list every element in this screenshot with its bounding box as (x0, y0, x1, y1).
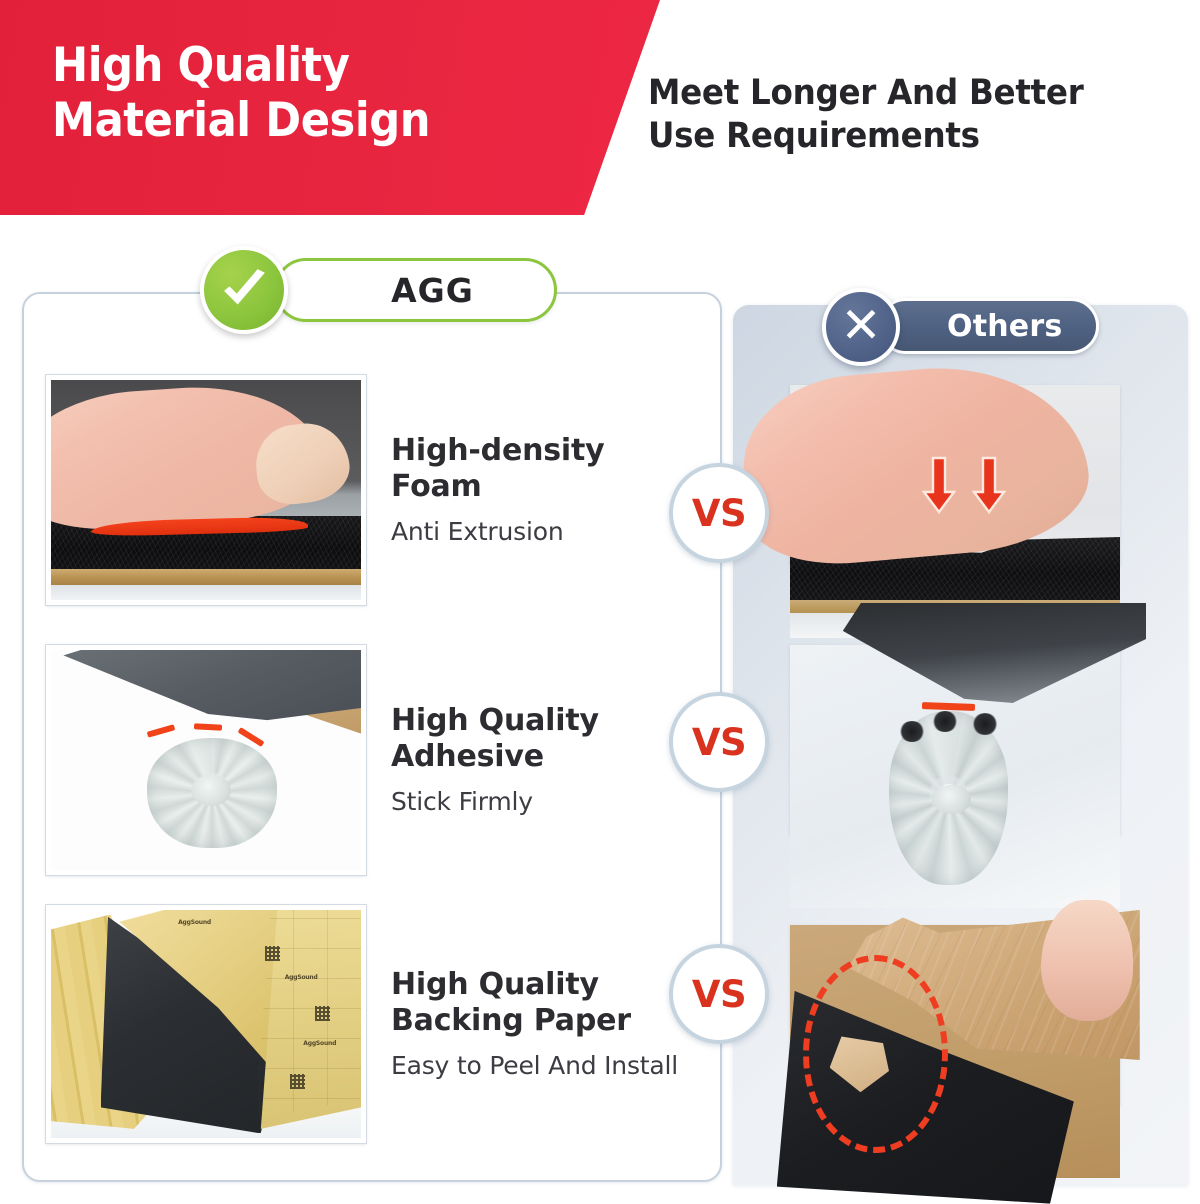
photo-poor-backing-paper (790, 925, 1120, 1105)
vs-label: VS (692, 721, 746, 764)
comparison-row-foam-bad: Inferior Foam Easy to Collapse (790, 385, 1120, 638)
photo-high-quality-backing-paper: AggSound AggSound AggSound (46, 905, 366, 1143)
check-icon (200, 246, 288, 334)
vs-label: VS (692, 492, 746, 535)
comparison-row-foam-good: High-density Foam Anti Extrusion (46, 375, 696, 605)
feature-title: High Quality Backing Paper (391, 967, 696, 1039)
down-arrow-icon (922, 456, 956, 514)
header-banner: High Quality Material Design Meet Longer… (0, 0, 1200, 215)
x-glyph: ✕ (840, 301, 881, 350)
page-title: High Quality Material Design (52, 38, 567, 149)
text-high-density-foam: High-density Foam Anti Extrusion (391, 375, 696, 605)
backing-paper-brand: AggSound (285, 974, 318, 981)
page-subtitle: Meet Longer And Better Use Requirements (648, 72, 1150, 157)
others-badge[interactable]: Others (878, 298, 1099, 354)
backing-paper-brand: AggSound (303, 1040, 336, 1047)
others-badge-label: Others (947, 309, 1062, 344)
photo-inferior-foam (790, 385, 1120, 565)
feature-subtitle: Stick Firmly (391, 787, 696, 817)
vs-badge: VS (669, 463, 769, 563)
feature-subtitle: Anti Extrusion (391, 517, 696, 547)
feature-title: High Quality Adhesive (391, 703, 696, 775)
comparison-row-backing-good: AggSound AggSound AggSound High Quality … (46, 905, 696, 1143)
backing-paper-brand: AggSound (178, 919, 211, 926)
feature-subtitle: Easy to Peel And Install (391, 1051, 696, 1081)
photo-poor-quality-adhesive (790, 645, 1120, 835)
agg-badge[interactable]: AGG (274, 258, 557, 322)
vs-badge: VS (669, 692, 769, 792)
down-arrow-icon (972, 456, 1006, 514)
photo-high-density-foam (46, 375, 366, 605)
text-high-quality-adhesive: High Quality Adhesive Stick Firmly (391, 645, 696, 875)
comparison-row-adhesive-bad: Poor Quality Adhesive Easy to Fall off (790, 645, 1120, 908)
feature-title: High-density Foam (391, 433, 696, 505)
comparison-row-adhesive-good: High Quality Adhesive Stick Firmly (46, 645, 696, 875)
text-high-quality-backing-paper: High Quality Backing Paper Easy to Peel … (391, 905, 696, 1143)
x-icon: ✕ (822, 288, 900, 366)
vs-label: VS (692, 973, 746, 1016)
vs-badge: VS (669, 944, 769, 1044)
photo-high-quality-adhesive (46, 645, 366, 875)
agg-badge-label: AGG (391, 271, 474, 310)
comparison-row-backing-bad: Poor Backing Paper Difficult to Peel And… (790, 925, 1120, 1178)
